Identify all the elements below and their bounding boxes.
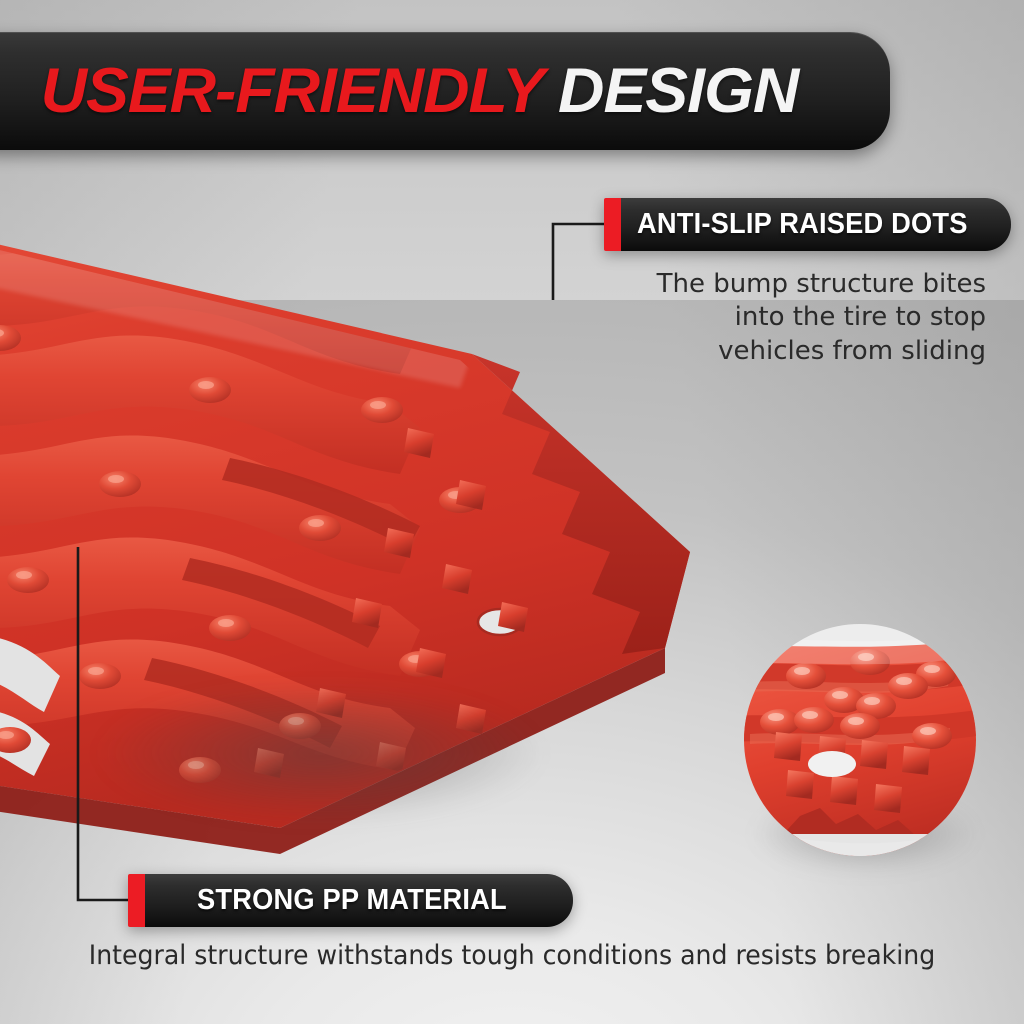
product-drop-shadow bbox=[10, 658, 630, 848]
callout-pill-body: ANTI-SLIP RAISED DOTS bbox=[621, 198, 1011, 251]
callout-label-text: ANTI-SLIP RAISED DOTS bbox=[637, 208, 968, 241]
callout-pill-body: STRONG PP MATERIAL bbox=[145, 874, 573, 927]
infographic-canvas: USER-FRIENDLYDESIGN ANTI-SLIP RAISED DOT… bbox=[0, 0, 1024, 1024]
callout-description-strong-pp-material: Integral structure withstands tough cond… bbox=[26, 940, 999, 971]
callout-description-anti-slip-raised-dots: The bump structure bites into the tire t… bbox=[656, 268, 986, 368]
callout-label-anti-slip-raised-dots: ANTI-SLIP RAISED DOTS bbox=[604, 198, 1011, 251]
accent-bar-red bbox=[604, 198, 621, 251]
header-title-white: DESIGN bbox=[558, 56, 798, 126]
header-title: USER-FRIENDLYDESIGN bbox=[41, 60, 799, 123]
header-title-red: USER-FRIENDLY bbox=[41, 56, 544, 126]
header-banner: USER-FRIENDLYDESIGN bbox=[0, 32, 890, 150]
accent-bar-red bbox=[128, 874, 145, 927]
detail-zoom-circle bbox=[740, 620, 980, 860]
callout-label-strong-pp-material: STRONG PP MATERIAL bbox=[128, 874, 573, 927]
callout-label-text: STRONG PP MATERIAL bbox=[197, 884, 507, 917]
